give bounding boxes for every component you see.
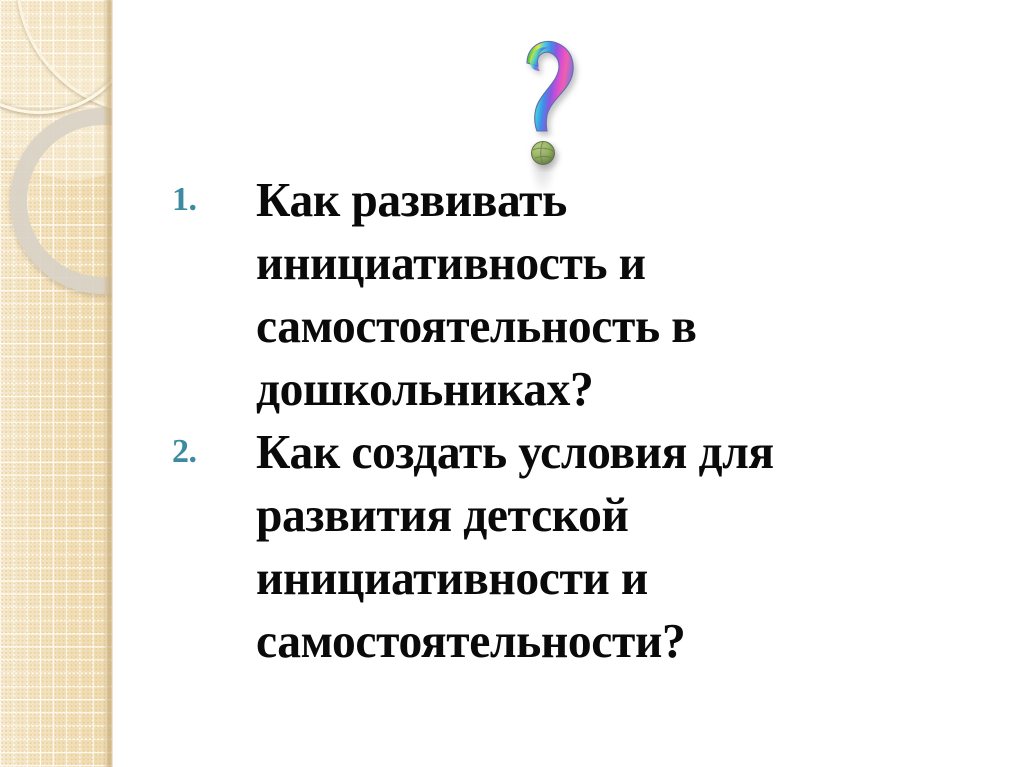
question-mark-graphic (497, 32, 593, 172)
sidebar-hairline (112, 0, 113, 767)
list-item-number: 1. (172, 168, 256, 231)
question-list: 1. Как развивать инициативность и самост… (172, 168, 872, 672)
presentation-slide: 1. Как развивать инициативность и самост… (0, 0, 1024, 767)
list-item-number: 2. (172, 420, 256, 483)
list-item: 2. Как создать условия для развития детс… (172, 420, 872, 672)
list-item-text: Как создать условия для развития детской… (256, 420, 854, 672)
list-item: 1. Как развивать инициативность и самост… (172, 168, 872, 420)
decorative-sidebar (0, 0, 113, 767)
list-item-text: Как развивать инициативность и самостоят… (256, 168, 854, 420)
